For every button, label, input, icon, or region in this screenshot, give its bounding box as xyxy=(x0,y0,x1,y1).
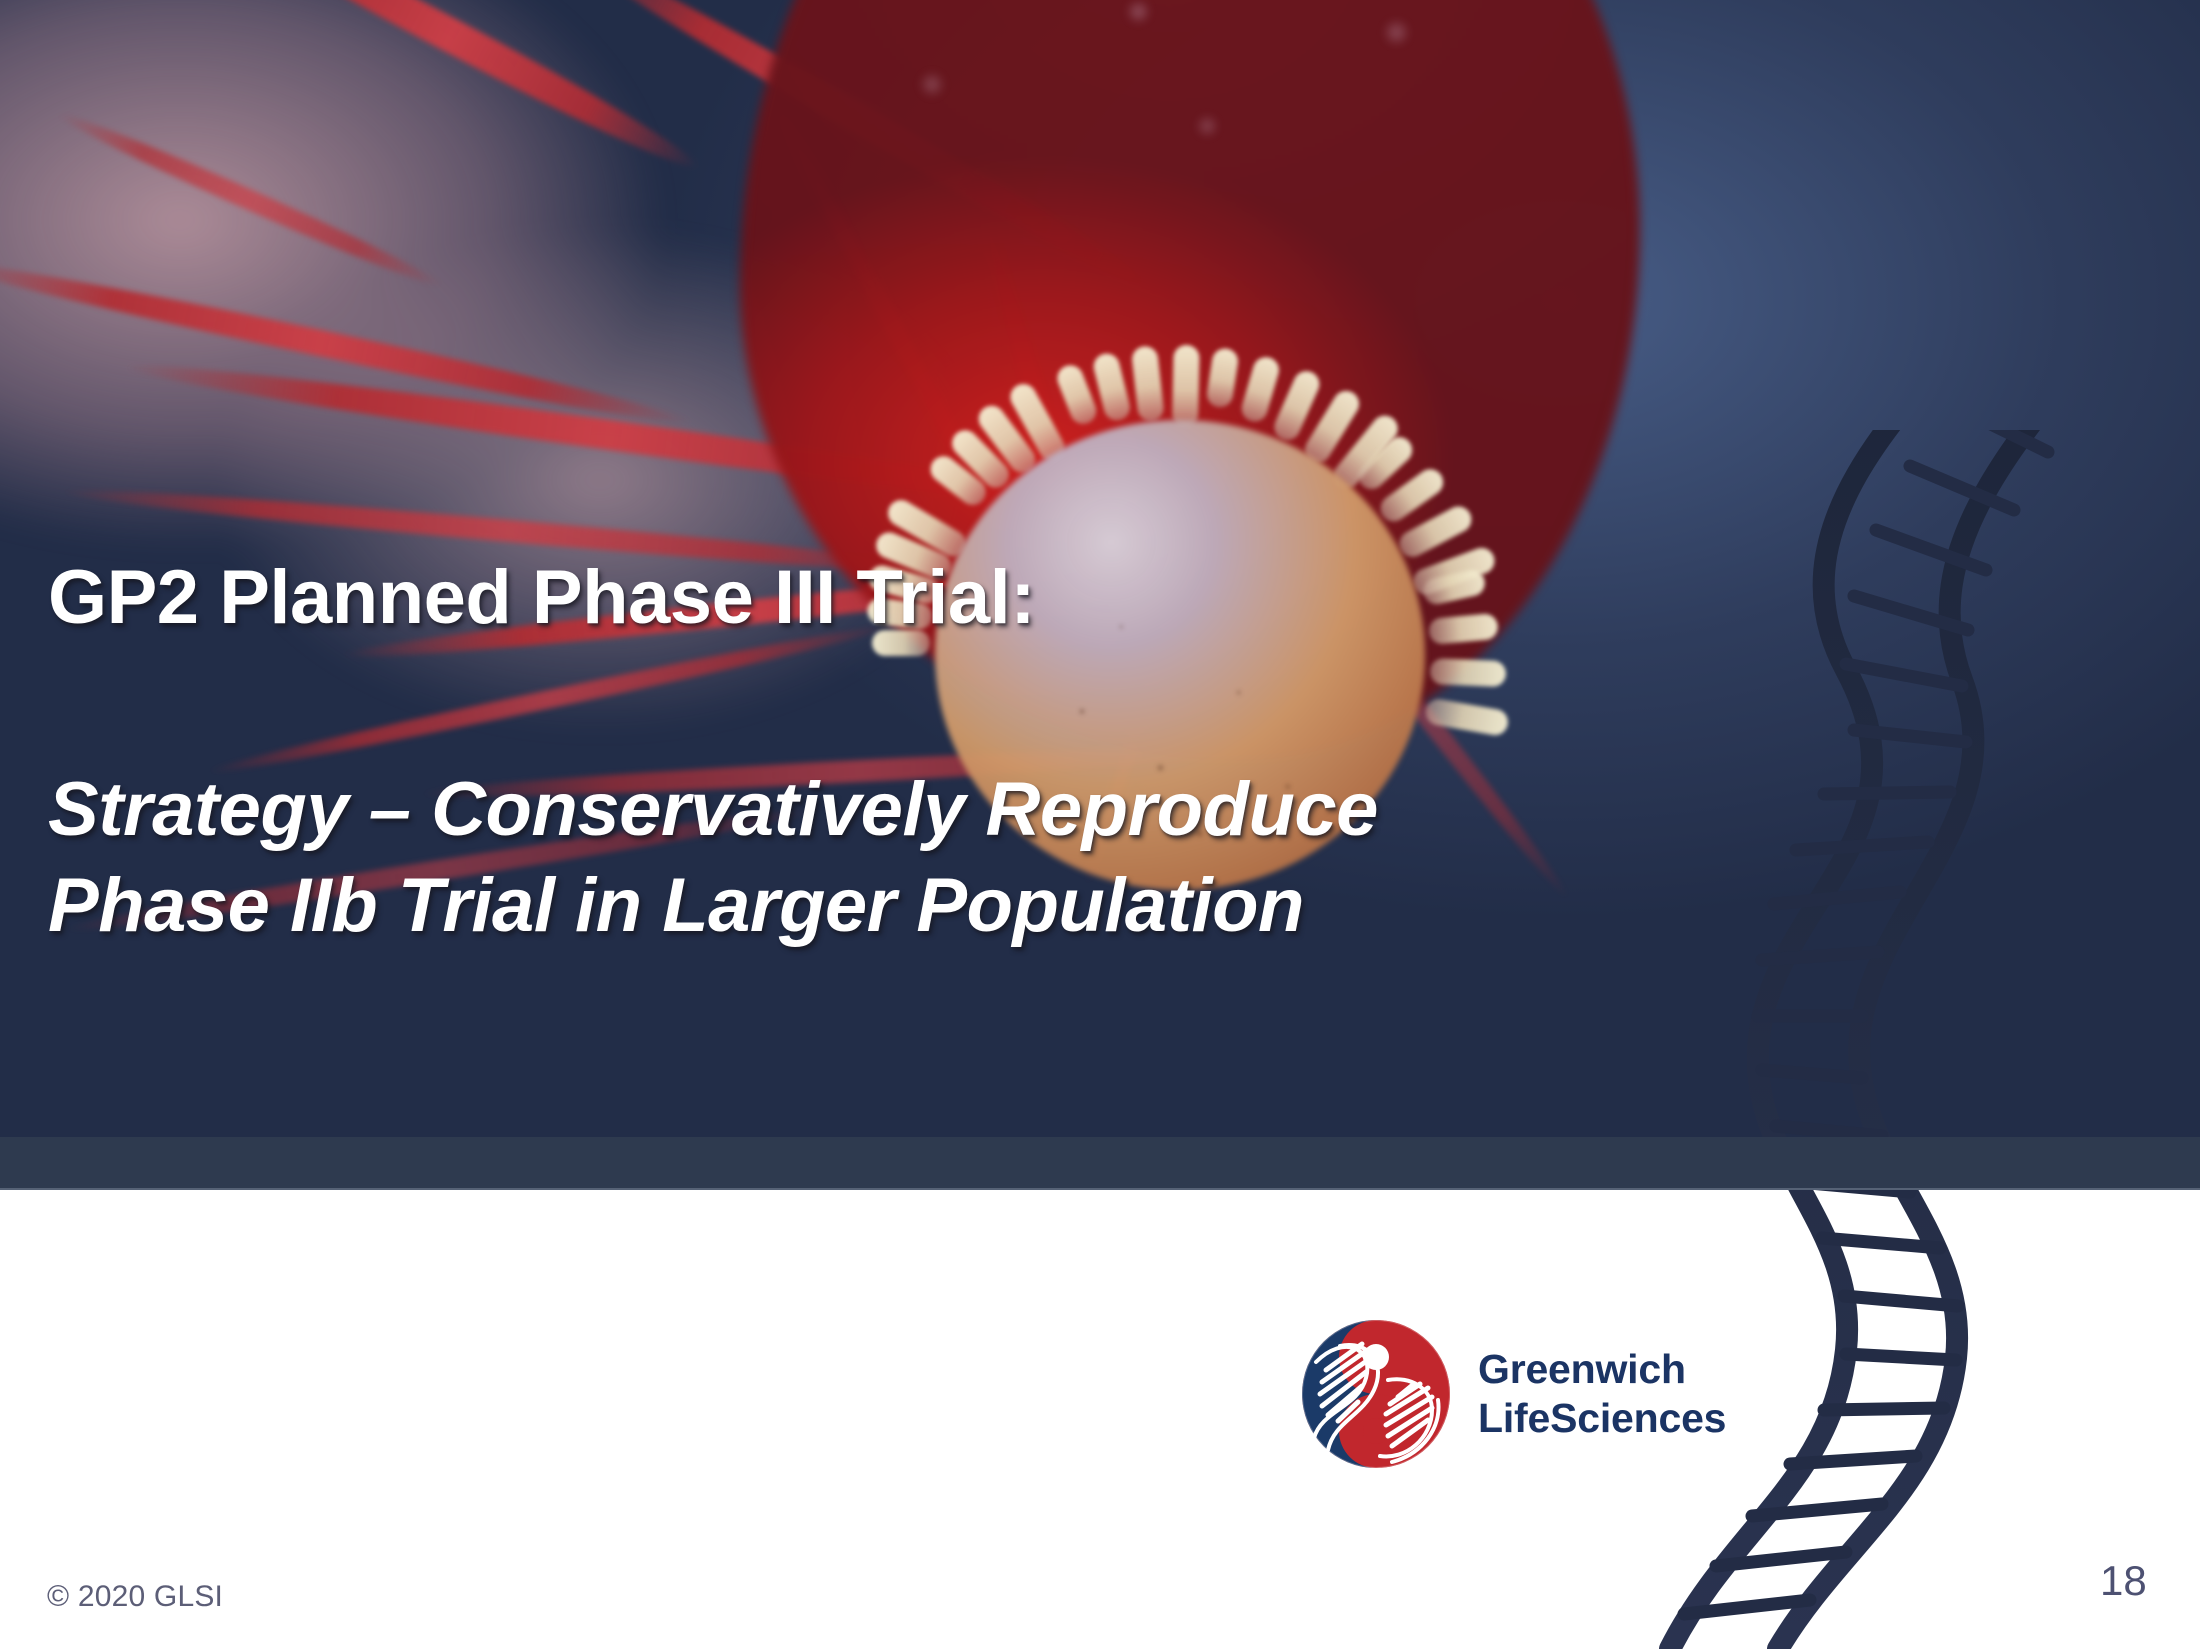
logo-name-line-2: LifeSciences xyxy=(1478,1394,1726,1443)
title-spacer xyxy=(48,644,2008,762)
tumor-surface-texture xyxy=(760,0,1620,230)
copyright-notice: © 2020 GLSI xyxy=(47,1580,223,1614)
dna-yin-yang-icon xyxy=(1300,1318,1452,1470)
page-number: 18 xyxy=(2100,1557,2147,1605)
subtitle-line-1: Strategy – Conservatively Reproduce xyxy=(48,762,2008,858)
logo-wordmark: Greenwich LifeSciences xyxy=(1478,1345,1726,1443)
subtitle-line-2: Phase IIb Trial in Larger Population xyxy=(48,858,2008,954)
cilium xyxy=(1172,345,1200,428)
separator-band xyxy=(0,1137,2200,1190)
page-title: GP2 Planned Phase III Trial: xyxy=(48,552,2008,644)
title-block: GP2 Planned Phase III Trial: Strategy – … xyxy=(48,552,2008,954)
presentation-slide: GP2 Planned Phase III Trial: Strategy – … xyxy=(0,0,2200,1649)
logo-name-line-1: Greenwich xyxy=(1478,1345,1726,1394)
company-logo: Greenwich LifeSciences xyxy=(1300,1318,1726,1470)
